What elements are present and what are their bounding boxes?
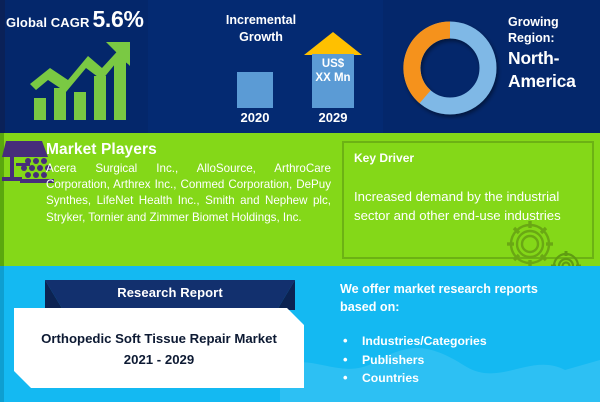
growing-region-text: Growing Region: North- America	[508, 14, 600, 92]
offer-heading: We offer market research reports based o…	[340, 280, 585, 316]
market-players-body: Acera Surgical Inc., AlloSource, ArthroC…	[46, 161, 331, 226]
bar-chart-growth-arrow-icon	[28, 40, 138, 120]
bar-forecast-year-label: 2029	[305, 110, 361, 125]
list-item: Publishers	[340, 351, 585, 370]
top-navy-section: Global CAGR5.6% Incremental Growth 20	[0, 0, 600, 133]
bar-forecast-value: US$ XX Mn	[308, 57, 358, 85]
growing-region-label-line1: Growing	[508, 14, 600, 30]
forecast-value-line1: US$	[308, 57, 358, 71]
middle-green-section: Market Players Acera Surgical Inc., Allo…	[0, 133, 600, 266]
bottom-cyan-section: Research Report Orthopedic Soft Tissue R…	[0, 266, 600, 402]
growing-region-label-line2: Region:	[508, 30, 600, 46]
market-players-title: Market Players	[46, 141, 157, 159]
key-driver-body: Increased demand by the industrial secto…	[354, 187, 586, 225]
left-edge-accent-cyan	[0, 266, 4, 402]
bar-base-year-label: 2020	[227, 110, 283, 125]
report-title-line2: 2021 - 2029	[14, 349, 304, 370]
growing-region-value-line1: North-	[508, 48, 600, 69]
infographic-root: Global CAGR5.6% Incremental Growth 20	[0, 0, 600, 402]
incremental-growth-title-line1: Incremental	[196, 12, 326, 29]
donut-chart-icon	[398, 16, 502, 120]
key-driver-title: Key Driver	[354, 151, 414, 165]
bar-base-year	[237, 72, 273, 108]
list-item: Industries/Categories	[340, 332, 585, 351]
cagr-value: 5.6%	[92, 6, 143, 32]
research-report-label: Research Report	[45, 285, 295, 300]
key-driver-card: Key Driver Increased demand by the indus…	[342, 141, 594, 259]
report-title-line1: Orthopedic Soft Tissue Repair Market	[14, 328, 304, 349]
cagr-header: Global CAGR5.6%	[6, 6, 156, 33]
list-item: Countries	[340, 369, 585, 388]
growing-region-value-line2: America	[508, 71, 600, 92]
report-title: Orthopedic Soft Tissue Repair Market 202…	[14, 328, 304, 370]
forecast-value-line2: XX Mn	[308, 71, 358, 85]
offer-heading-line1: We offer market research reports	[340, 280, 585, 298]
cagr-label: Global CAGR	[6, 15, 89, 30]
offer-heading-line2: based on:	[340, 298, 585, 316]
offer-list: Industries/Categories Publishers Countri…	[340, 332, 585, 388]
arrow-up-icon	[304, 32, 362, 55]
left-edge-accent	[0, 0, 5, 133]
